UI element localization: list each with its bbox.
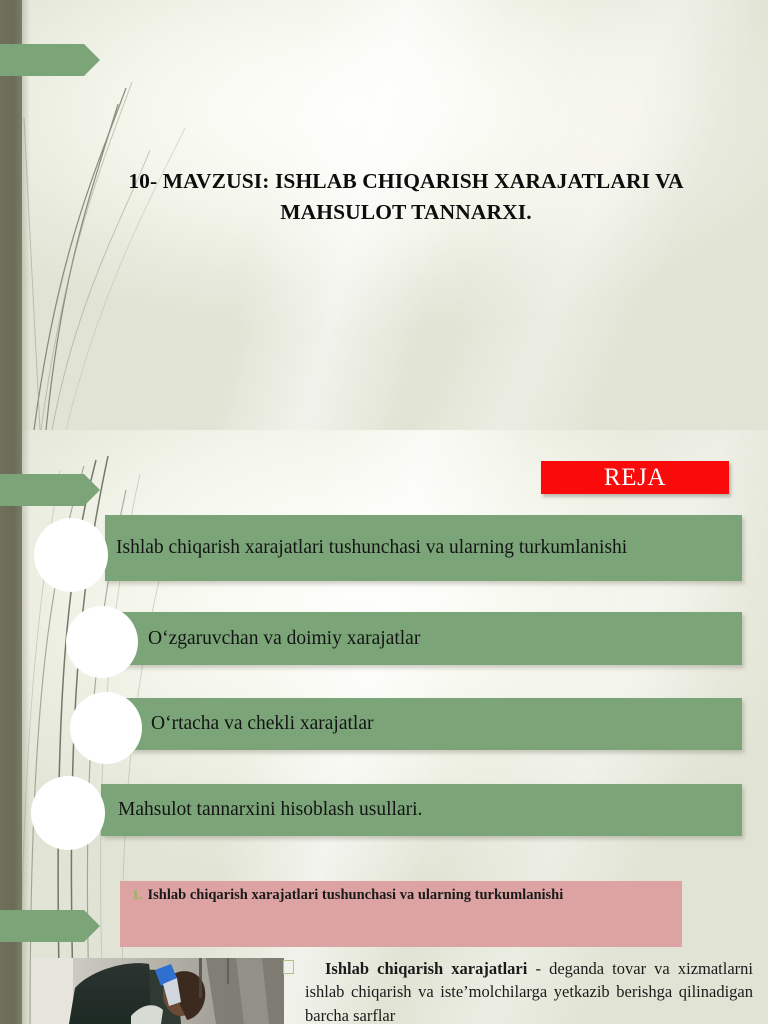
body-paragraph: Ishlab chiqarish xarajatlari - deganda t…: [305, 957, 753, 1024]
callout-text: Ishlab chiqarish xarajatlari tushunchasi…: [148, 886, 564, 905]
photograph-worker-icon: [31, 958, 284, 1024]
bullet-circle-icon: [70, 692, 142, 764]
agenda-item-label: Ishlab chiqarish xarajatlari tushunchasi…: [105, 535, 641, 560]
agenda-item-2[interactable]: O‘zgaruvchan va doimiy xarajatlar: [118, 612, 742, 665]
chevron-ribbon-icon: [0, 474, 100, 506]
callout-row: 1. Ishlab chiqarish xarajatlari tushunch…: [132, 886, 672, 905]
bullet-circle-icon: [34, 518, 108, 592]
bullet-circle-icon: [66, 606, 138, 678]
body-lead-term: Ishlab chiqarish xarajatlari: [325, 959, 527, 978]
square-bullet-icon: [283, 960, 294, 974]
callout-number: 1.: [132, 888, 143, 904]
agenda-item-label: O‘zgaruvchan va doimiy xarajatlar: [118, 626, 434, 651]
callout-banner: 1. Ishlab chiqarish xarajatlari tushunch…: [120, 881, 682, 947]
body-paragraph-block: Ishlab chiqarish xarajatlari - deganda t…: [283, 957, 753, 1024]
agenda-item-label: O‘rtacha va chekli xarajatlar: [121, 711, 388, 736]
bullet-circle-icon: [31, 776, 105, 850]
page-title: 10- MAVZUSI: ISHLAB CHIQARISH XARAJATLAR…: [96, 166, 716, 227]
agenda-item-1[interactable]: Ishlab chiqarish xarajatlari tushunchasi…: [105, 515, 742, 581]
chevron-ribbon-icon: [0, 910, 100, 942]
chevron-ribbon-icon: [0, 44, 100, 76]
slide-title: 10- MAVZUSI: ISHLAB CHIQARISH XARAJATLAR…: [0, 0, 768, 430]
agenda-item-3[interactable]: O‘rtacha va chekli xarajatlar: [121, 698, 742, 750]
slide-deck: 10- MAVZUSI: ISHLAB CHIQARISH XARAJATLAR…: [0, 0, 768, 1024]
agenda-item-label: Mahsulot tannarxini hisoblash usullari.: [101, 797, 436, 822]
reja-badge: REJA: [541, 461, 729, 494]
agenda-item-4[interactable]: Mahsulot tannarxini hisoblash usullari.: [101, 784, 742, 836]
